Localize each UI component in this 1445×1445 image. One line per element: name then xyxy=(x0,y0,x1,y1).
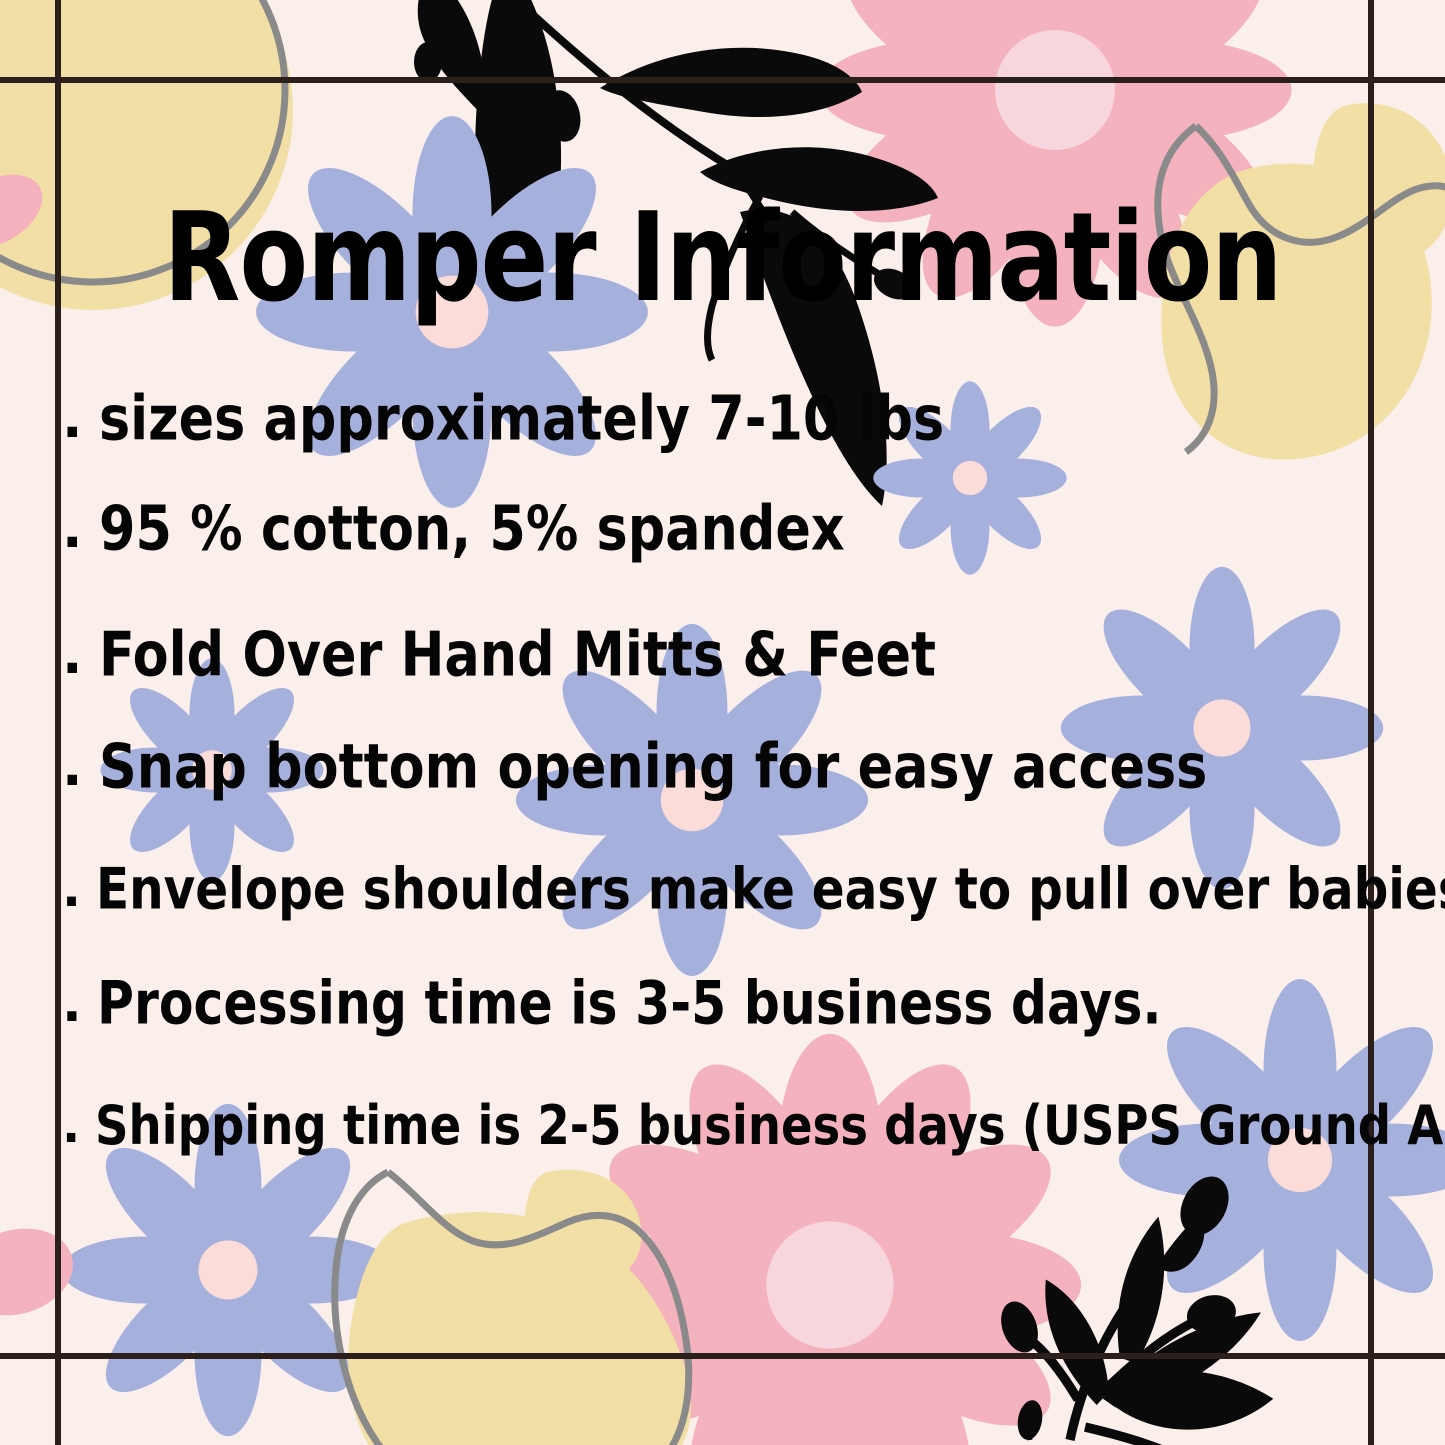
list-item-label: Fold Over Hand Mitts & Feet xyxy=(99,624,936,686)
list-item-label: Envelope shoulders make easy to pull ove… xyxy=(96,861,1445,918)
list-item-label: 95 % cotton, 5% spandex xyxy=(99,498,845,560)
list-item-label: Processing time is 3-5 business days. xyxy=(97,974,1162,1033)
list-item-label: Shipping time is 2-5 business days (USPS… xyxy=(95,1099,1445,1154)
list-item: . Envelope shoulders make easy to pull o… xyxy=(62,864,1445,914)
list-item: . 95 % cotton, 5% spandex xyxy=(62,502,867,556)
bullet-marker-icon: . xyxy=(62,864,81,914)
poster-content: Romper Information . sizes approximately… xyxy=(0,0,1445,1445)
bullet-marker-icon: . xyxy=(62,1102,80,1150)
poster-canvas: Romper Information . sizes approximately… xyxy=(0,0,1445,1445)
list-item: . Processing time is 3-5 business days. xyxy=(62,978,1195,1030)
bullet-marker-icon: . xyxy=(62,392,83,446)
list-item: . Fold Over Hand Mitts & Feet xyxy=(62,628,962,682)
bullet-marker-icon: . xyxy=(62,502,83,556)
list-item-label: Snap bottom opening for easy access xyxy=(99,736,1207,798)
list-item: . sizes approximately 7-10 lbs xyxy=(62,392,970,446)
bullet-marker-icon: . xyxy=(62,740,83,794)
page-title: Romper Information xyxy=(29,196,1416,319)
list-item: . Snap bottom opening for easy access xyxy=(62,740,1241,794)
list-item: . Shipping time is 2-5 business days (US… xyxy=(62,1102,1445,1150)
list-item-label: sizes approximately 7-10 lbs xyxy=(99,388,944,450)
bullet-marker-icon: . xyxy=(62,628,83,682)
bullet-marker-icon: . xyxy=(62,978,82,1030)
